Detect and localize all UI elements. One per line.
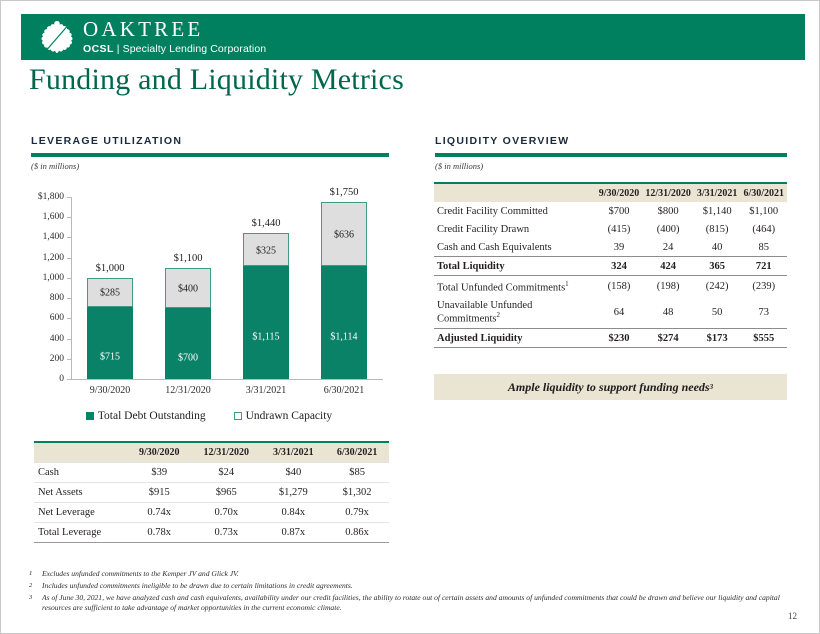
callout-banner: Ample liquidity to support funding needs… [434,374,787,400]
y-axis-tick [67,379,71,380]
row-label: Total Liquidity [434,257,596,276]
table-cell: $274 [642,329,694,348]
table-cell: (242) [694,276,741,297]
brand-subtitle: OCSL | Specialty Lending Corporation [83,42,266,56]
table-cell: $24 [191,463,261,483]
table-cell: 0.73x [191,523,261,543]
table-cell: (239) [740,276,787,297]
bar-segment-total-debt: $715 [87,307,133,379]
col-header-0930: 9/30/2020 [127,442,191,463]
y-axis-tick [67,258,71,259]
bar-total-label: $1,100 [165,253,211,264]
y-axis-tick [67,298,71,299]
table-cell: (198) [642,276,694,297]
units-label-right: ($ in millions) [435,161,483,171]
table-cell: 73 [740,297,787,329]
section-rule-left [31,153,389,157]
table-row: Credit Facility Committed$700$800$1,140$… [434,202,787,220]
bar-value-label: $700 [165,352,211,363]
legend-item-undrawn: Undrawn Capacity [234,410,333,422]
legend-swatch-debt [86,412,94,420]
bar-total-label: $1,440 [243,218,289,229]
bar-value-label: $285 [88,288,132,299]
footnote-number: 2 [29,581,42,592]
table-row: Adjusted Liquidity$230$274$173$555 [434,329,787,348]
row-label: Unavailable Unfunded Commitments2 [434,297,596,329]
table-cell: 0.87x [261,523,325,543]
table-row: Credit Facility Drawn(415)(400)(815)(464… [434,220,787,238]
table-head: 9/30/2020 12/31/2020 3/31/2021 6/30/2021 [434,183,787,202]
table-cell: $85 [325,463,389,483]
table-cell: 324 [596,257,643,276]
y-axis-tick [67,359,71,360]
table-cell: 40 [694,238,741,257]
table-row: Net Assets$915$965$1,279$1,302 [34,483,389,503]
col-header-blank [434,183,596,202]
brand-ticker: OCSL [83,43,114,55]
bar-total-label: $1,000 [87,263,133,274]
table-row: Cash$39$24$40$85 [34,463,389,483]
x-axis-label: 3/31/2021 [221,385,311,396]
bar-total-label: $1,750 [321,187,367,198]
y-axis-label: 200 [50,354,64,364]
bar-value-label: $400 [166,283,210,294]
table-cell: (464) [740,220,787,238]
table-cell: 50 [694,297,741,329]
oak-leaf-icon [37,19,77,57]
units-label-left: ($ in millions) [31,161,79,171]
y-axis-label: 1,400 [43,232,64,242]
bar-segment-total-debt: $700 [165,308,211,379]
table-cell: $39 [127,463,191,483]
table-cell: (158) [596,276,643,297]
row-label: Credit Facility Drawn [434,220,596,238]
footnote-row: 1Excludes unfunded commitments to the Ke… [29,569,789,580]
table-cell: $40 [261,463,325,483]
footnote-row: 2Includes unfunded commitments ineligibl… [29,581,789,592]
y-axis-tick [67,339,71,340]
y-axis-tick [67,237,71,238]
y-axis-label: 800 [50,293,64,303]
slide: OAKTREE OCSL | Specialty Lending Corpora… [0,0,820,634]
bar-value-label: $1,114 [321,331,367,342]
footnote-marker: 2 [497,311,501,319]
callout-footnote-marker: 3 [710,383,714,391]
section-rule-right [435,153,787,157]
y-axis-label: 1,200 [43,253,64,263]
table-row: Net Leverage0.74x0.70x0.84x0.79x [34,503,389,523]
y-axis-tick [67,197,71,198]
col-header-0630: 6/30/2021 [325,442,389,463]
table-cell: $173 [694,329,741,348]
table-cell: $800 [642,202,694,220]
callout-text: Ample liquidity to support funding needs [508,380,710,395]
footnote-text: As of June 30, 2021, we have analyzed ca… [42,593,789,615]
brand-header: OAKTREE OCSL | Specialty Lending Corpora… [21,14,805,60]
row-label: Net Assets [34,483,127,503]
page-number: 12 [788,611,797,621]
table-cell: $915 [127,483,191,503]
table-cell: $700 [596,202,643,220]
bar-segment-total-debt: $1,115 [243,266,289,379]
bar-segment-undrawn-capacity: $285 [87,278,133,307]
y-axis-tick [67,278,71,279]
table-row: Unavailable Unfunded Commitments26448507… [434,297,787,329]
bar-value-label: $715 [87,351,133,362]
y-axis-label: 1,600 [43,212,64,222]
y-axis-tick [67,318,71,319]
y-axis-line [71,197,72,379]
chart-legend: Total Debt OutstandingUndrawn Capacity [29,410,389,422]
table-cell: 0.79x [325,503,389,523]
row-label: Credit Facility Committed [434,202,596,220]
row-label: Total Unfunded Commitments1 [434,276,596,297]
liquidity-overview-table: 9/30/2020 12/31/2020 3/31/2021 6/30/2021… [434,182,787,348]
bar-value-label: $1,115 [243,331,289,342]
table-cell: (400) [642,220,694,238]
row-label: Net Leverage [34,503,127,523]
table-cell: $1,302 [325,483,389,503]
table-cell: 0.84x [261,503,325,523]
table-row: Total Leverage0.78x0.73x0.87x0.86x [34,523,389,543]
bar-segment-undrawn-capacity: $636 [321,202,367,266]
table-cell: (815) [694,220,741,238]
legend-item-debt: Total Debt Outstanding [86,410,206,422]
table-cell: 0.74x [127,503,191,523]
bar-segment-undrawn-capacity: $400 [165,268,211,308]
bar-segment-total-debt: $1,114 [321,266,367,379]
leverage-metrics-table: 9/30/2020 12/31/2020 3/31/2021 6/30/2021… [34,441,389,543]
brand-name: OAKTREE [83,18,266,40]
row-label: Cash [34,463,127,483]
table-cell: 24 [642,238,694,257]
footnote-number: 1 [29,569,42,580]
legend-label-debt: Total Debt Outstanding [98,410,206,422]
row-label: Adjusted Liquidity [434,329,596,348]
footnote-text: Excludes unfunded commitments to the Kem… [42,569,789,580]
row-label: Total Leverage [34,523,127,543]
y-axis-label: $1,800 [38,192,64,202]
table-cell: $1,140 [694,202,741,220]
table-cell: 365 [694,257,741,276]
y-axis-label: 1,000 [43,273,64,283]
table-header-row: 9/30/2020 12/31/2020 3/31/2021 6/30/2021 [34,442,389,463]
section-title-liquidity: LIQUIDITY OVERVIEW [435,135,569,147]
x-axis-label: 9/30/2020 [65,385,155,396]
brand-subtitle-rest: | Specialty Lending Corporation [114,43,266,55]
col-header-0331: 3/31/2021 [261,442,325,463]
section-title-leverage: LEVERAGE UTILIZATION [31,135,182,147]
row-label: Cash and Cash Equivalents [434,238,596,257]
table-header-row: 9/30/2020 12/31/2020 3/31/2021 6/30/2021 [434,183,787,202]
x-axis-label: 6/30/2021 [299,385,389,396]
table-cell: 64 [596,297,643,329]
bar-value-label: $636 [322,230,366,241]
table-body: Credit Facility Committed$700$800$1,140$… [434,202,787,348]
table-cell: $555 [740,329,787,348]
footnote-text: Includes unfunded commitments ineligible… [42,581,789,592]
table-body: Cash$39$24$40$85Net Assets$915$965$1,279… [34,463,389,543]
footnote-marker: 1 [565,280,569,288]
table-cell: 0.70x [191,503,261,523]
x-axis-line [71,379,383,380]
table-cell: 424 [642,257,694,276]
table-row: Total Unfunded Commitments1(158)(198)(24… [434,276,787,297]
bar-segment-undrawn-capacity: $325 [243,233,289,266]
y-axis-label: 600 [50,313,64,323]
table-cell: (415) [596,220,643,238]
table-cell: 39 [596,238,643,257]
footnote-row: 3As of June 30, 2021, we have analyzed c… [29,593,789,615]
footnotes: 1Excludes unfunded commitments to the Ke… [29,569,789,615]
bar-value-label: $325 [244,245,288,256]
y-axis-tick [67,217,71,218]
table-cell: 48 [642,297,694,329]
legend-swatch-undrawn [234,412,242,420]
table-cell: 0.86x [325,523,389,543]
col-header-1231: 12/31/2020 [642,183,694,202]
x-axis-label: 12/31/2020 [143,385,233,396]
table-row: Total Liquidity324424365721 [434,257,787,276]
col-header-0331: 3/31/2021 [694,183,741,202]
table-cell: $1,100 [740,202,787,220]
table-cell: $230 [596,329,643,348]
table-cell: $1,279 [261,483,325,503]
y-axis-label: 400 [50,334,64,344]
table-row: Cash and Cash Equivalents39244085 [434,238,787,257]
table-cell: 85 [740,238,787,257]
legend-label-undrawn: Undrawn Capacity [246,410,333,422]
table-cell: 0.78x [127,523,191,543]
table-cell: 721 [740,257,787,276]
table-head: 9/30/2020 12/31/2020 3/31/2021 6/30/2021 [34,442,389,463]
table-cell: $965 [191,483,261,503]
col-header-0930: 9/30/2020 [596,183,643,202]
page-title: Funding and Liquidity Metrics [29,63,404,97]
brand-text-block: OAKTREE OCSL | Specialty Lending Corpora… [83,18,266,56]
y-axis-label: 0 [59,374,64,384]
col-header-0630: 6/30/2021 [740,183,787,202]
footnote-number: 3 [29,593,42,615]
col-header-blank [34,442,127,463]
leverage-utilization-chart: 02004006008001,0001,2001,4001,600$1,800$… [29,179,389,401]
col-header-1231: 12/31/2020 [191,442,261,463]
